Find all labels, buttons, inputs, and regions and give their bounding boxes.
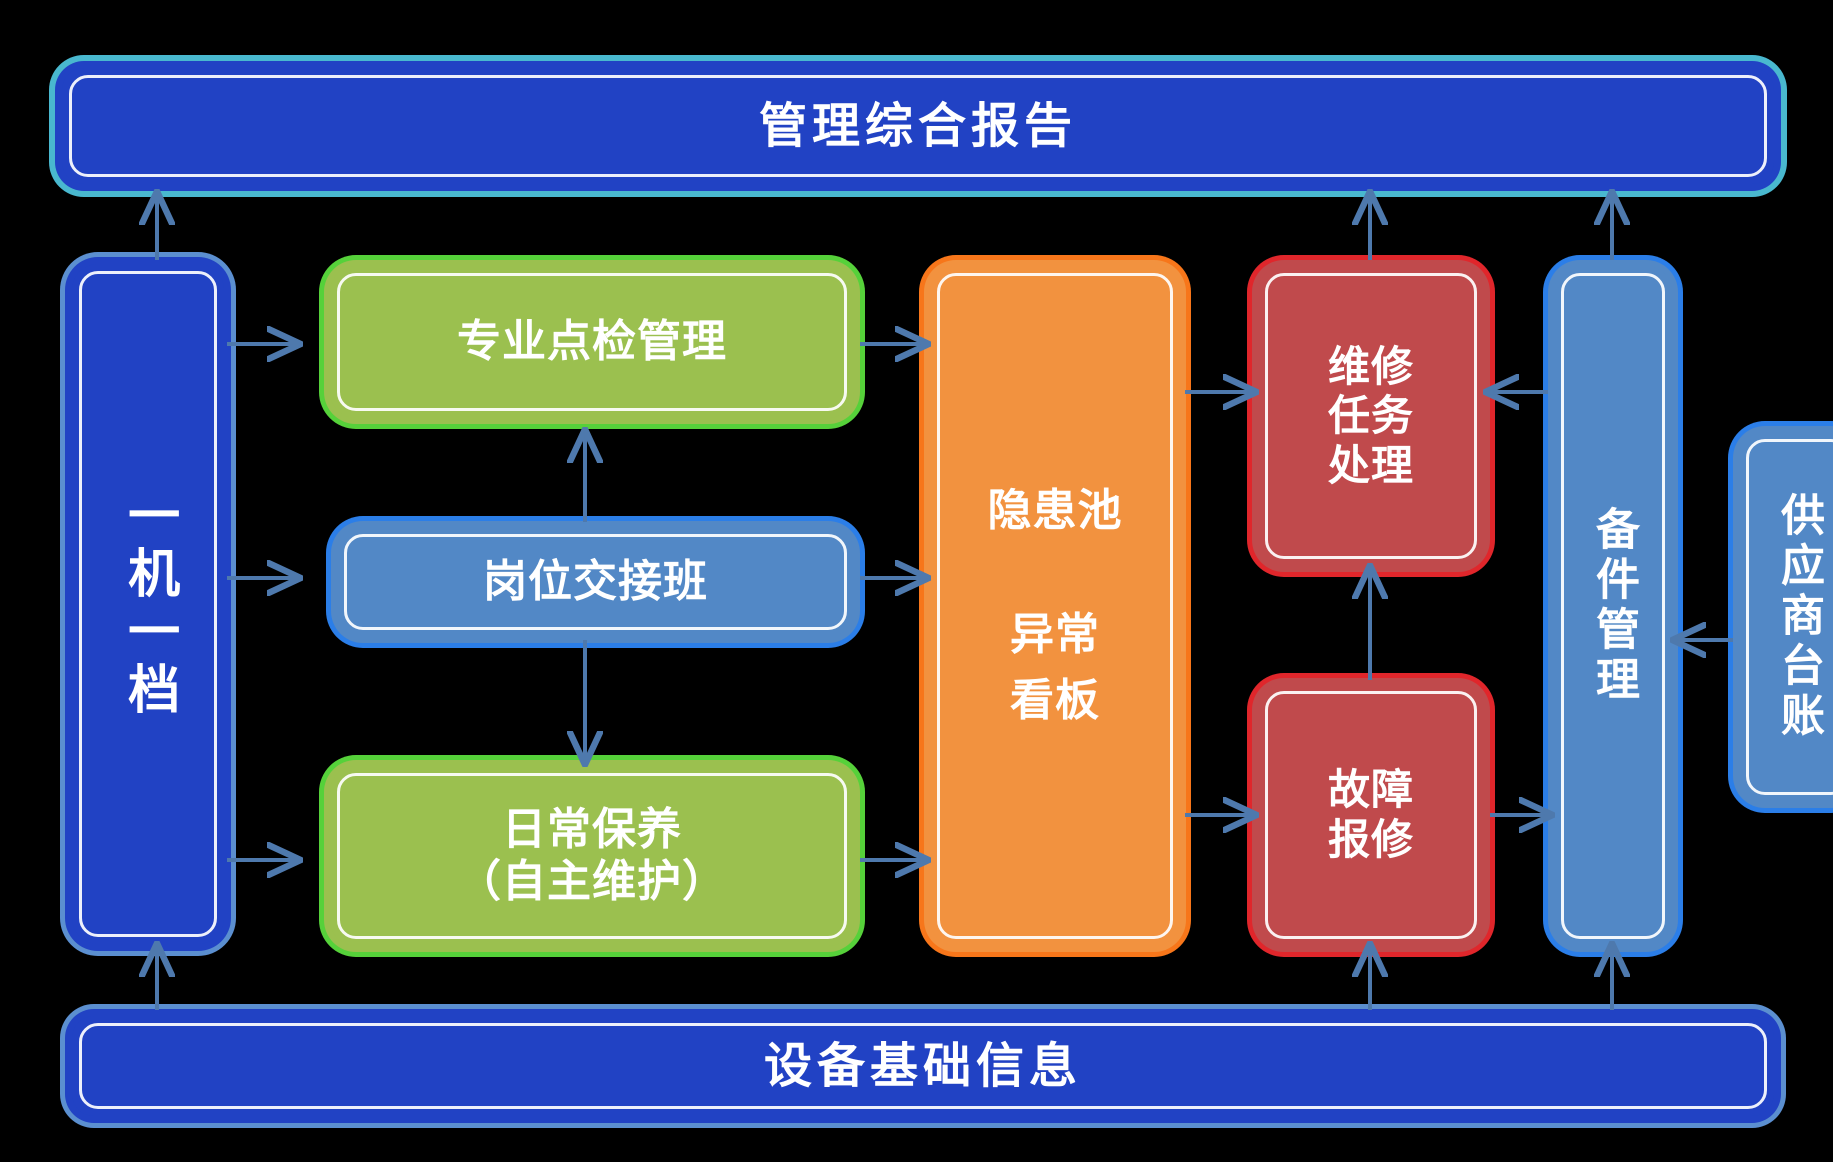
node-label-supplier-ledger: 供应商台账 <box>1764 492 1832 742</box>
node-label-management-report: 管理综合报告 <box>751 98 1085 155</box>
node-hazard-pool[interactable]: 隐患池 异常 看板 <box>930 266 1180 946</box>
node-label-hazard-pool-line3: 看板 <box>1002 668 1108 734</box>
node-label-daily-maintenance-line2: （自主维护） <box>449 856 735 908</box>
node-label-repair-task-line3: 处理 <box>1320 441 1422 491</box>
node-one-machine-one-file[interactable]: 一机一档 <box>72 264 224 944</box>
node-label-shift-handover: 岗位交接班 <box>475 556 716 608</box>
node-management-report[interactable]: 管理综合报告 <box>62 68 1774 184</box>
node-equipment-basic-info[interactable]: 设备基础信息 <box>72 1016 1774 1116</box>
node-shift-handover[interactable]: 岗位交接班 <box>337 527 854 637</box>
node-label-repair-task-line2: 任务 <box>1320 391 1422 441</box>
node-label-one-machine-one-file: 一机一档 <box>109 488 186 720</box>
node-label-hazard-pool-line1: 隐患池 <box>980 478 1131 544</box>
node-label-professional-inspection: 专业点检管理 <box>449 316 735 368</box>
node-label-fault-report-line1: 故障 <box>1320 765 1422 815</box>
node-spare-parts[interactable]: 备件管理 <box>1554 266 1672 946</box>
node-fault-report[interactable]: 故障 报修 <box>1258 684 1484 946</box>
node-professional-inspection[interactable]: 专业点检管理 <box>330 266 854 418</box>
node-supplier-ledger[interactable]: 供应商台账 <box>1739 432 1833 802</box>
node-daily-maintenance[interactable]: 日常保养 （自主维护） <box>330 766 854 946</box>
node-label-fault-report-line2: 报修 <box>1320 815 1422 865</box>
node-repair-task[interactable]: 维修 任务 处理 <box>1258 266 1484 566</box>
node-label-daily-maintenance-line1: 日常保养 <box>494 804 690 856</box>
node-label-repair-task-line1: 维修 <box>1320 342 1422 392</box>
node-label-spare-parts: 备件管理 <box>1579 506 1647 706</box>
diagram-canvas: 管理综合报告 一机一档 专业点检管理 岗位交接班 日常保养 （自主维护） 隐患池… <box>0 0 1833 1162</box>
node-label-hazard-pool-line2: 异常 <box>1002 602 1108 668</box>
node-label-equipment-basic-info: 设备基础信息 <box>756 1038 1090 1095</box>
